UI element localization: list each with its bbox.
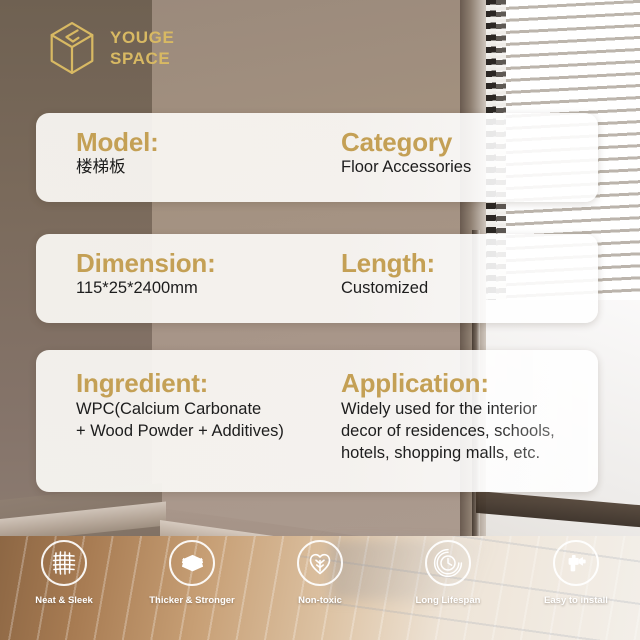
feature-highlights-row: Neat & Sleek Thicker & Stronger [0,540,640,620]
spec-card-dimension: Dimension: 115*25*2400mm Length: Customi… [36,234,598,323]
feature-item-long-lifespan: Long Lifespan [384,540,512,606]
spec-card-ingredient: Ingredient: WPC(Calcium Carbonate + Wood… [36,350,598,492]
spec-field-category: Category Floor Accessories [341,127,471,202]
spec-key: Model: [76,127,341,157]
spec-field-length: Length: Customized [341,248,435,323]
feature-item-thicker-stronger: Thicker & Stronger [128,540,256,606]
stacked-layers-icon [169,540,215,586]
spec-field-model: Model: 楼梯板 [36,127,341,202]
spec-key: Dimension: [76,248,341,278]
product-infographic: YOUGE SPACE Model: 楼梯板 Category Floor Ac… [0,0,640,640]
window-glare-overlay [478,113,598,202]
spec-value: Customized [341,278,435,299]
spec-key: Length: [341,248,435,278]
window-glare-overlay [478,234,598,323]
clock-icon [425,540,471,586]
spec-value: Floor Accessories [341,157,471,178]
spec-value: WPC(Calcium Carbonate + Wood Powder + Ad… [76,398,341,442]
feature-label: Easy to install [544,595,608,606]
spec-field-application: Application: Widely used for the interio… [341,368,555,492]
brand-header: YOUGE SPACE [48,20,174,76]
cube-box-spiral-icon [48,20,96,76]
feature-label: Neat & Sleek [35,595,93,606]
drill-icon [553,540,599,586]
spec-value: Widely used for the interior decor of re… [341,398,555,464]
spec-card-model: Model: 楼梯板 Category Floor Accessories [36,113,598,202]
spec-value: 楼梯板 [76,157,341,178]
brand-line-2: SPACE [110,49,170,68]
feature-label: Non-toxic [298,595,342,606]
feature-item-easy-to-install: Easy to install [512,540,640,606]
feature-item-non-toxic: Non-toxic [256,540,384,606]
spec-field-ingredient: Ingredient: WPC(Calcium Carbonate + Wood… [36,368,341,492]
feature-label: Thicker & Stronger [149,595,235,606]
leaf-heart-icon [297,540,343,586]
feature-label: Long Lifespan [416,595,481,606]
brand-line-1: YOUGE [110,28,174,47]
spec-field-dimension: Dimension: 115*25*2400mm [36,248,341,323]
spec-key: Ingredient: [76,368,341,398]
brand-name: YOUGE SPACE [110,27,174,69]
woven-mesh-icon [41,540,87,586]
spec-value: 115*25*2400mm [76,278,341,299]
feature-item-neat-sleek: Neat & Sleek [0,540,128,606]
spec-key: Category [341,127,471,157]
spec-key: Application: [341,368,555,398]
